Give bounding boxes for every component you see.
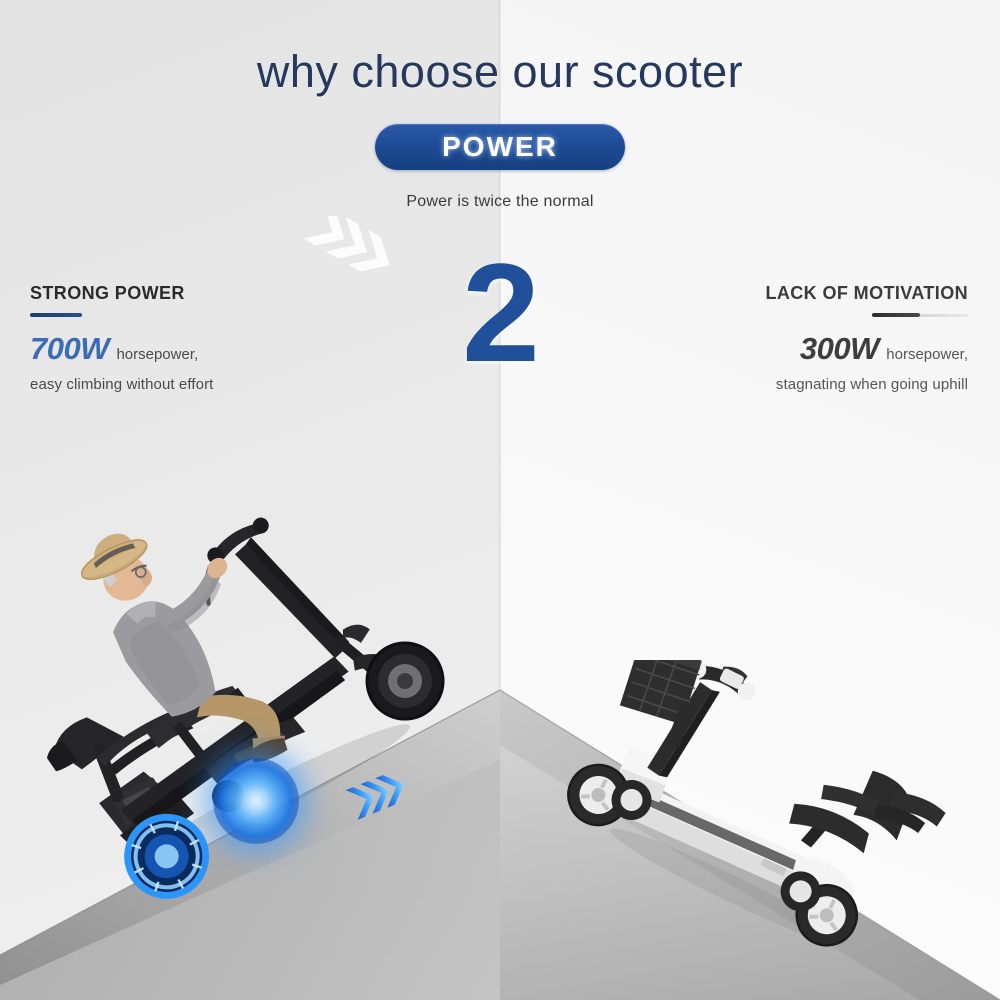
page-title: why choose our scooter [0, 46, 1000, 98]
rule-accent-bar [30, 313, 82, 317]
glowing-wheel-icon [213, 758, 299, 844]
lack-motivation-heading: LACK OF MOTIVATION [628, 283, 968, 304]
lack-motivation-description: stagnating when going uphill [628, 376, 968, 393]
lack-motivation-value: 300W [800, 331, 879, 366]
strong-power-heading: STRONG POWER [30, 283, 360, 304]
strong-power-unit: horsepower, [116, 346, 198, 363]
lack-motivation-spec: 300W horsepower, [628, 331, 968, 367]
strong-power-rule [30, 313, 360, 317]
scene-right-weak-scooter [500, 660, 1000, 1000]
lack-motivation-rule [628, 313, 968, 317]
power-badge: POWER [375, 124, 625, 170]
strong-power-description: easy climbing without effort [30, 376, 360, 393]
comparison-panel-lack-of-motivation: LACK OF MOTIVATION 300W horsepower, stag… [628, 283, 968, 393]
page-subtitle: Power is twice the normal [0, 193, 1000, 211]
strong-power-value: 700W [30, 331, 109, 366]
power-badge-label: POWER [442, 131, 558, 163]
scene-left-powered-scooter [0, 430, 500, 1000]
promo-banner: why choose our scooter POWER Power is tw… [0, 0, 1000, 1000]
rule-accent-bar [872, 313, 920, 317]
strong-power-spec: 700W horsepower, [30, 331, 360, 367]
lack-motivation-unit: horsepower, [886, 346, 968, 363]
comparison-panel-strong-power: STRONG POWER 700W horsepower, easy climb… [30, 283, 360, 393]
rule-light-bar [920, 314, 968, 317]
